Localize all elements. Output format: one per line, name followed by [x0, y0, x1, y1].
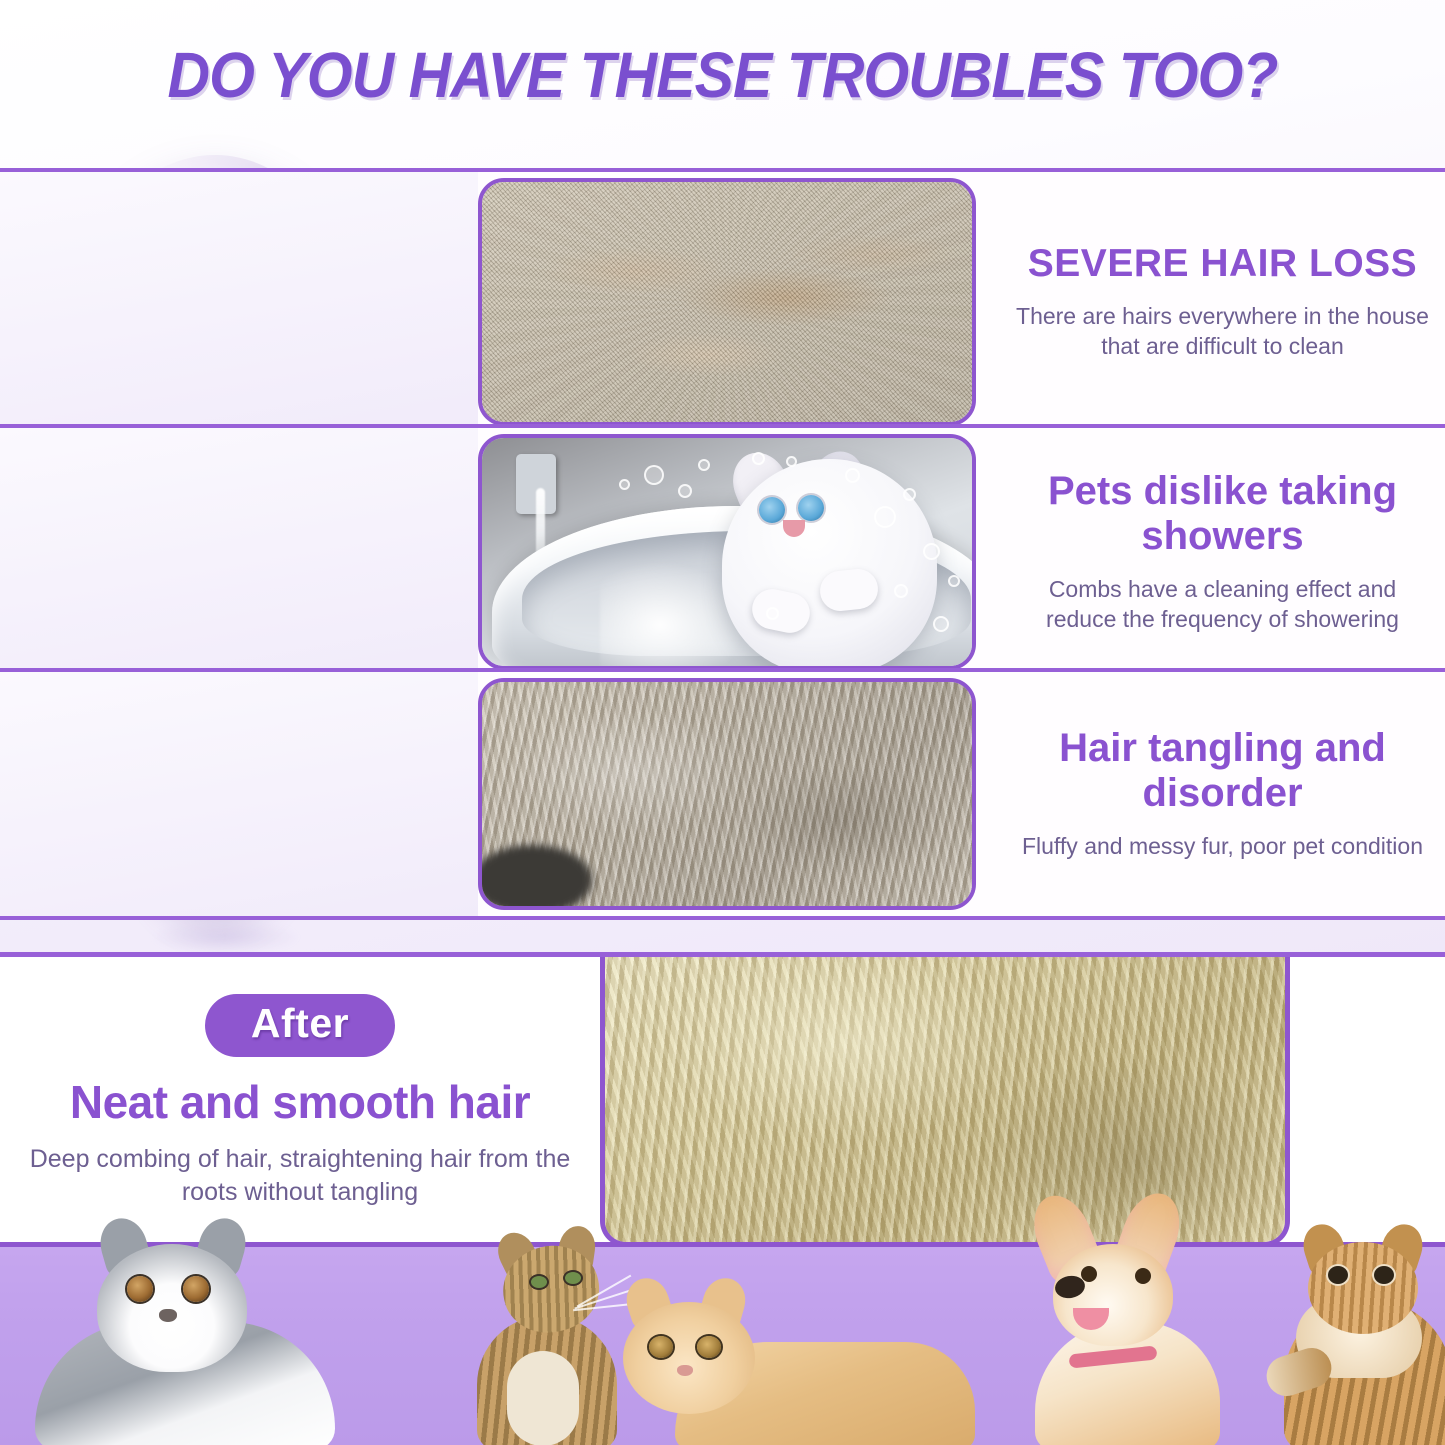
cat-head	[1308, 1242, 1418, 1334]
corgi-dog	[995, 1245, 1270, 1445]
cat-eye-right	[183, 1276, 209, 1302]
water-bubbles	[482, 438, 972, 666]
bathroom-scene	[482, 438, 972, 666]
pet-photo-strip	[0, 1242, 1445, 1445]
cat-in-bathtub-photo	[478, 434, 976, 670]
cat-eye-right	[1374, 1266, 1394, 1284]
cat-eye-left	[127, 1276, 153, 1302]
water-bubble	[894, 584, 908, 598]
problem-description: There are hairs everywhere in the house …	[1014, 302, 1431, 362]
after-text-block: After Neat and smooth hair Deep combing …	[0, 960, 600, 1242]
water-bubble	[874, 506, 896, 528]
dog-eye-left	[1081, 1266, 1097, 1282]
water-bubble	[923, 543, 940, 560]
problem-heading: SEVERE HAIR LOSS	[1028, 242, 1417, 286]
cat-head	[623, 1302, 755, 1414]
cat-eye-right	[565, 1272, 581, 1284]
cat-eye-left	[1328, 1266, 1348, 1284]
problem-description: Combs have a cleaning effect and reduce …	[1014, 575, 1431, 635]
water-bubble	[845, 468, 860, 483]
cat-chest	[507, 1351, 579, 1445]
infographic-page: DO YOU HAVE THESE TROUBLES TOO? SEVERE H…	[0, 0, 1445, 1445]
row-left-fill	[0, 672, 478, 916]
problem-row: SEVERE HAIR LOSS There are hairs everywh…	[0, 168, 1445, 436]
cat-nose	[159, 1309, 177, 1322]
grey-white-shorthair-cat	[35, 1260, 355, 1445]
water-bubble	[903, 488, 916, 501]
page-title: DO YOU HAVE THESE TROUBLES TOO?	[58, 38, 1387, 112]
fur-shadow	[478, 845, 592, 910]
water-bubble	[698, 459, 710, 471]
cat-head	[97, 1244, 247, 1372]
water-bubble	[619, 479, 630, 490]
problem-row: Hair tangling and disorder Fluffy and me…	[0, 668, 1445, 920]
pet-hair-on-carpet-photo	[478, 178, 976, 426]
tangled-messy-fur-photo	[478, 678, 976, 910]
after-description: Deep combing of hair, straightening hair…	[0, 1143, 600, 1209]
row-left-fill	[0, 428, 478, 676]
water-bubble	[644, 465, 664, 485]
water-bubble	[752, 452, 765, 465]
product-reflection	[150, 920, 300, 954]
carpet-texture	[482, 182, 972, 422]
after-heading: Neat and smooth hair	[70, 1075, 530, 1129]
water-bubble	[786, 456, 797, 467]
problem-text-block: Hair tangling and disorder Fluffy and me…	[1000, 672, 1445, 916]
dog-eye-right	[1135, 1268, 1151, 1284]
problem-description: Fluffy and messy fur, poor pet condition	[1022, 832, 1423, 862]
water-bubble	[948, 575, 960, 587]
golden-fur-texture	[605, 957, 1285, 1242]
after-badge: After	[205, 994, 395, 1057]
problem-heading: Hair tangling and disorder	[1014, 726, 1431, 816]
cat-nose	[677, 1365, 693, 1376]
problem-text-block: Pets dislike taking showers Combs have a…	[1000, 428, 1445, 676]
problem-row: Pets dislike taking showers Combs have a…	[0, 424, 1445, 680]
problem-heading: Pets dislike taking showers	[1014, 469, 1431, 559]
cat-eye-right	[697, 1336, 721, 1358]
smooth-golden-fur-photo	[600, 957, 1290, 1247]
problem-text-block: SEVERE HAIR LOSS There are hairs everywh…	[1000, 172, 1445, 432]
water-bubble	[766, 607, 779, 620]
cat-eye-left	[649, 1336, 673, 1358]
cat-eye-left	[531, 1276, 547, 1288]
water-bubble	[678, 484, 692, 498]
fluffy-ginger-longhair-cat	[1270, 1238, 1445, 1445]
ginger-loaf-cat	[615, 1295, 985, 1445]
water-bubble	[933, 616, 949, 632]
row-left-fill	[0, 172, 478, 432]
